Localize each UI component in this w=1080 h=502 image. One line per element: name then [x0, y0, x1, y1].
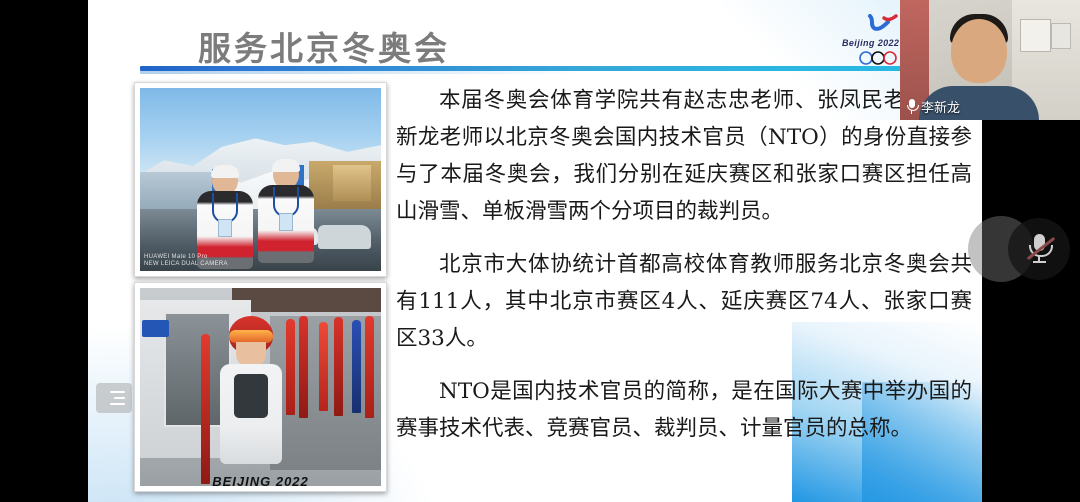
title-underline-shadow	[140, 71, 590, 74]
participant-name-badge: 李新龙	[906, 97, 960, 116]
video-wall-paper-2	[1051, 23, 1071, 49]
photo1-car-right	[318, 225, 371, 249]
paragraph-3: NTO是国内技术官员的简称，是在国际大赛中举办国的赛事技术代表、竞赛官员、裁判员…	[396, 373, 972, 447]
slide-body-text: 本届冬奥会体育学院共有赵志忠老师、张凤民老师和李新龙老师以北京冬奥会国内技术官员…	[396, 82, 972, 447]
photo2-held-ski	[201, 334, 210, 484]
photo2-ski-2	[299, 316, 308, 418]
screen-background: 服务北京冬奥会 Beijing 2022	[0, 0, 1080, 502]
photo2-caption: BEIJING 2022	[135, 474, 386, 489]
microphone-muted-icon	[1028, 234, 1050, 264]
presentation-slide: 服务北京冬奥会 Beijing 2022	[88, 0, 982, 502]
paragraph-1: 本届冬奥会体育学院共有赵志忠老师、张凤民老师和李新龙老师以北京冬奥会国内技术官员…	[396, 82, 972, 230]
photo2-ski-3	[319, 322, 328, 412]
mute-button[interactable]	[1008, 218, 1070, 280]
list-menu-icon[interactable]	[96, 383, 132, 413]
photo1-watermark-line2: NEW LEICA DUAL CAMERA	[144, 261, 228, 268]
photo-two-officials-at-ski-venue: HUAWEI Mate 10 Pro NEW LEICA DUAL CAMERA	[134, 82, 387, 277]
emblem-wordmark: Beijing 2022	[842, 38, 899, 48]
photo-athlete-with-skis: BEIJING 2022	[134, 282, 387, 492]
photo1-watermark: HUAWEI Mate 10 Pro NEW LEICA DUAL CAMERA	[144, 254, 228, 268]
participant-video-tile[interactable]: 李新龙	[900, 0, 1080, 120]
photo2-blue-sign	[142, 320, 169, 338]
paragraph-2: 北京市大体协统计首都高校体育教师服务北京冬奥会共有111人，其中北京市赛区4人、…	[396, 246, 972, 357]
photo2-roof-beam	[232, 288, 381, 312]
photo2-athlete	[207, 316, 294, 478]
photo2-ski-4	[334, 317, 343, 416]
photo1-watermark-line1: HUAWEI Mate 10 Pro	[144, 254, 228, 261]
video-person-head	[951, 19, 1007, 83]
microphone-icon	[906, 99, 917, 114]
photo1-building-right-inner	[333, 165, 372, 202]
video-wall-paper-1	[1020, 19, 1051, 52]
photo1-person-right	[256, 161, 316, 271]
slide-title: 服务北京冬奥会	[198, 22, 450, 70]
photo2-ski-5	[352, 320, 361, 413]
participant-name-label: 李新龙	[921, 97, 960, 116]
photo2-ski-6	[365, 316, 374, 418]
